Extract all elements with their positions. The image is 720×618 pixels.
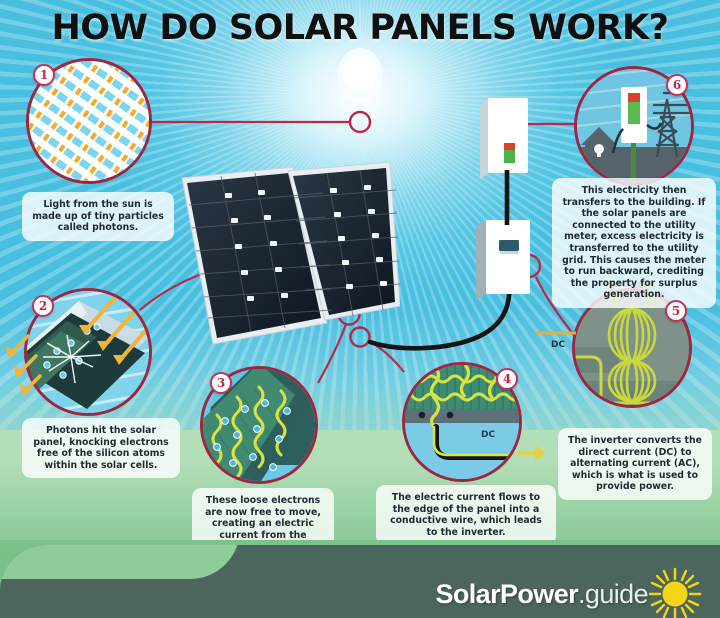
inverter-to-meter-wire — [495, 170, 525, 230]
step-2-badge: 2 — [32, 295, 54, 317]
reflected-photon-arrows — [2, 330, 42, 410]
dc-label: DC — [551, 340, 565, 350]
logo-secondary: .guide — [578, 579, 648, 609]
logo-text: SolarPower.guide — [435, 579, 648, 610]
step-4-callout: The electric current flows to the edge o… — [376, 485, 556, 545]
step-1-badge: 1 — [33, 64, 55, 86]
step-2-callout: Photons hit the solar panel, knocking el… — [22, 418, 180, 478]
step-1-callout: Light from the sun is made up of tiny pa… — [22, 192, 174, 241]
logo-primary: SolarPower — [435, 579, 578, 609]
step-5-badge: 5 — [665, 300, 687, 322]
utility-meter-unit — [474, 218, 536, 310]
dc-input-line — [536, 326, 578, 340]
step-5-callout: The inverter converts the direct current… — [558, 428, 712, 500]
site-logo[interactable]: SolarPower.guide — [435, 567, 702, 618]
step-6-badge: 6 — [666, 74, 688, 96]
step-3-badge: 3 — [210, 372, 232, 394]
sun-icon — [648, 567, 702, 618]
step-4-badge: 4 — [496, 368, 518, 390]
svg-text:DC: DC — [481, 430, 495, 440]
step-6-callout: This electricity then transfers to the b… — [552, 178, 716, 308]
dc-output-arrow — [518, 442, 548, 464]
